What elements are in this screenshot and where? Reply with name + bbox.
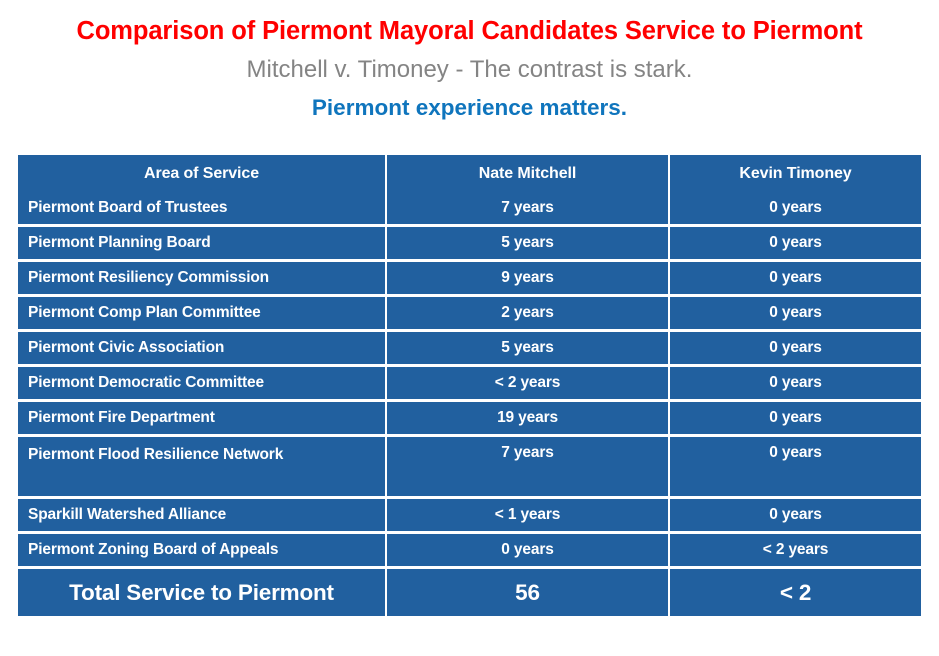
table-row: Piermont Fire Department 19 years 0 year… [18,402,921,437]
cell-area: Piermont Fire Department [18,402,387,437]
table-row: Piermont Board of Trustees 7 years 0 yea… [18,192,921,227]
cell-kevin: 0 years [670,332,921,367]
cell-nate: < 1 years [387,499,670,534]
cell-nate: 19 years [387,402,670,437]
table-row: Piermont Civic Association 5 years 0 yea… [18,332,921,367]
cell-kevin: 0 years [670,402,921,437]
cell-nate: 0 years [387,534,670,569]
cell-nate: 9 years [387,262,670,297]
column-header-area: Area of Service [18,155,387,192]
table-row: Piermont Resiliency Commission 9 years 0… [18,262,921,297]
cell-area: Piermont Civic Association [18,332,387,367]
cell-area: Piermont Board of Trustees [18,192,387,227]
table-row: Sparkill Watershed Alliance < 1 years 0 … [18,499,921,534]
column-header-nate: Nate Mitchell [387,155,670,192]
cell-area: Piermont Flood Resilience Network [18,437,387,499]
cell-kevin: 0 years [670,499,921,534]
cell-area: Piermont Zoning Board of Appeals [18,534,387,569]
cell-kevin: 0 years [670,192,921,227]
page-title: Comparison of Piermont Mayoral Candidate… [0,17,939,46]
table-total-row: Total Service to Piermont 56 < 2 [18,569,921,616]
service-comparison-table-wrapper: Area of Service Nate Mitchell Kevin Timo… [18,155,921,616]
header-row: Area of Service Nate Mitchell Kevin Timo… [18,155,921,192]
cell-nate: 7 years [387,192,670,227]
cell-kevin: 0 years [670,262,921,297]
cell-area: Piermont Resiliency Commission [18,262,387,297]
service-comparison-table: Area of Service Nate Mitchell Kevin Timo… [18,155,921,616]
cell-area: Sparkill Watershed Alliance [18,499,387,534]
cell-nate: 5 years [387,332,670,367]
cell-area: Piermont Planning Board [18,227,387,262]
page-subtitle: Mitchell v. Timoney - The contrast is st… [0,56,939,84]
cell-area: Piermont Comp Plan Committee [18,297,387,332]
table-row: Piermont Planning Board 5 years 0 years [18,227,921,262]
heading-block: Comparison of Piermont Mayoral Candidate… [0,0,939,121]
page-tagline: Piermont experience matters. [0,95,939,121]
table-header: Area of Service Nate Mitchell Kevin Timo… [18,155,921,192]
total-value-kevin: < 2 [670,569,921,616]
cell-nate: 7 years [387,437,670,499]
table-row: Piermont Flood Resilience Network 7 year… [18,437,921,499]
cell-kevin: 0 years [670,437,921,499]
cell-kevin: 0 years [670,367,921,402]
table-body: Piermont Board of Trustees 7 years 0 yea… [18,192,921,616]
column-header-kevin: Kevin Timoney [670,155,921,192]
cell-kevin: < 2 years [670,534,921,569]
cell-area: Piermont Democratic Committee [18,367,387,402]
total-label: Total Service to Piermont [18,569,387,616]
cell-kevin: 0 years [670,227,921,262]
cell-kevin: 0 years [670,297,921,332]
cell-nate: < 2 years [387,367,670,402]
cell-nate: 5 years [387,227,670,262]
total-value-nate: 56 [387,569,670,616]
table-row: Piermont Comp Plan Committee 2 years 0 y… [18,297,921,332]
table-row: Piermont Democratic Committee < 2 years … [18,367,921,402]
cell-nate: 2 years [387,297,670,332]
table-row: Piermont Zoning Board of Appeals 0 years… [18,534,921,569]
comparison-infographic: Comparison of Piermont Mayoral Candidate… [0,0,939,656]
